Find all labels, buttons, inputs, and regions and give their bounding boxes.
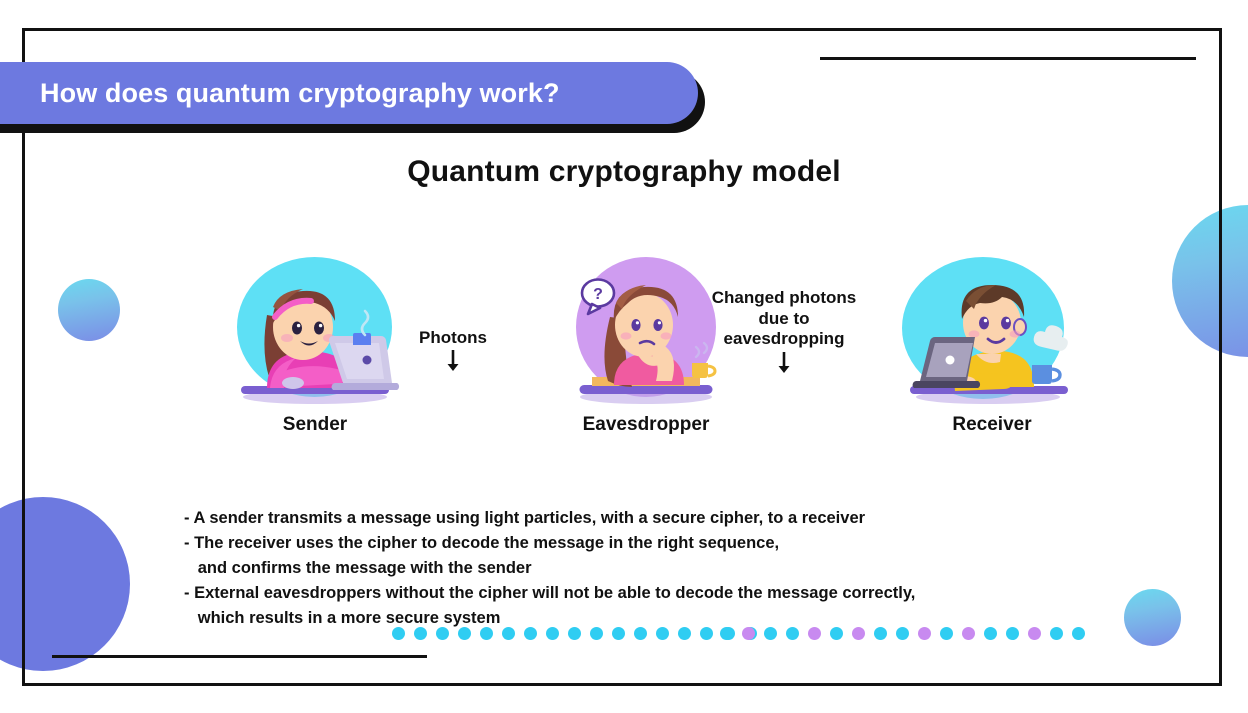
list-item: and confirms the message with the sender <box>184 556 1134 581</box>
receiver-illustration <box>892 255 1092 410</box>
annotation-changed-line3: eavesdropping <box>690 329 878 350</box>
annotation-changed-line2: due to <box>690 309 878 330</box>
receiver-label: Receiver <box>892 414 1092 436</box>
list-item: - The receiver uses the cipher to decode… <box>184 531 1134 556</box>
annotation-changed-line1: Changed photons <box>690 288 878 309</box>
bullet-list: - A sender transmits a message using lig… <box>184 506 1134 631</box>
annotation-photons: Photons <box>378 328 528 372</box>
annotation-changed-photons: Changed photons due to eavesdropping <box>690 288 878 374</box>
title-banner-text: How does quantum cryptography work? <box>0 78 560 109</box>
list-item: - A sender transmits a message using lig… <box>184 506 1134 531</box>
accent-line-top-right <box>820 57 1196 60</box>
annotation-photons-text: Photons <box>419 328 487 347</box>
down-arrow-icon <box>446 350 460 372</box>
svg-text:?: ? <box>593 286 603 303</box>
list-item: - External eavesdroppers without the cip… <box>184 581 1134 606</box>
slide-canvas: How does quantum cryptography work? Quan… <box>0 0 1248 713</box>
page-title: Quantum cryptography model <box>0 155 1248 189</box>
diagram-node-receiver: Receiver <box>892 255 1092 436</box>
title-banner: How does quantum cryptography work? <box>0 62 698 124</box>
accent-line-bottom-left <box>52 655 427 658</box>
receiver-figure-icon <box>892 255 1092 410</box>
quantum-cryptography-diagram: Sender <box>22 255 1222 460</box>
down-arrow-icon <box>777 352 791 374</box>
list-item: which results in a more secure system <box>184 606 1134 631</box>
eavesdropper-label: Eavesdropper <box>546 414 746 436</box>
sender-label: Sender <box>215 414 415 436</box>
